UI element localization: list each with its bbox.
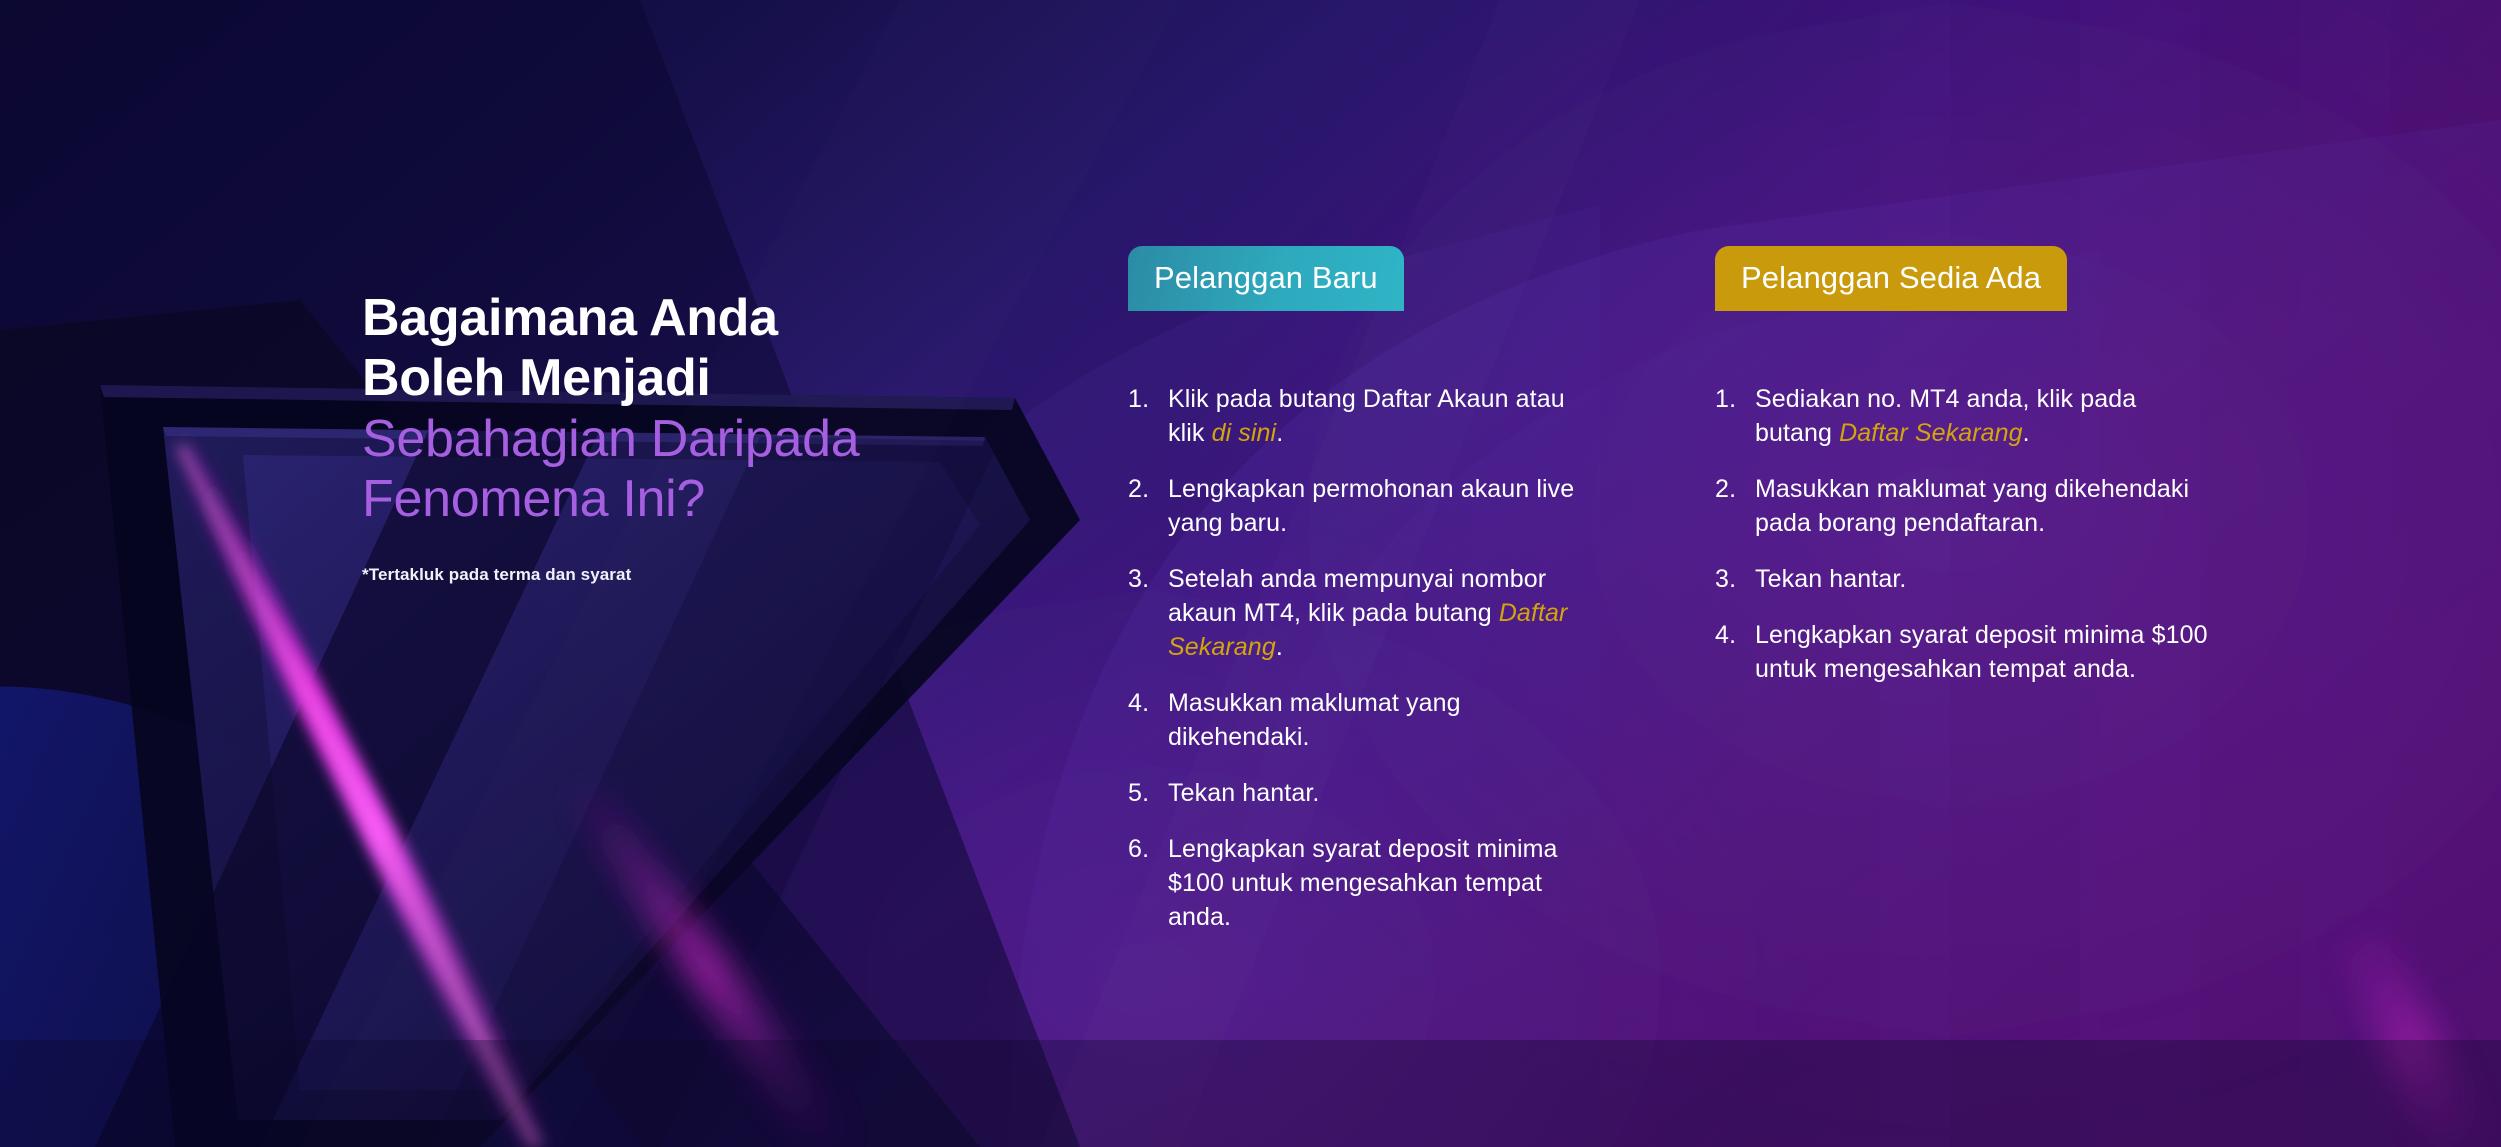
step-number: 5. xyxy=(1128,776,1168,810)
headline-line-3: Sebahagian Daripada xyxy=(362,409,1002,469)
steps-list-new-customer: 1.Klik pada butang Daftar Akaun atau kli… xyxy=(1128,382,1628,956)
step-number: 3. xyxy=(1128,562,1168,596)
page-content: Bagaimana Anda Boleh Menjadi Sebahagian … xyxy=(0,0,2501,1147)
step-item: 6.Lengkapkan syarat deposit minima $100 … xyxy=(1128,832,1628,934)
step-item: 4.Lengkapkan syarat deposit minima $100 … xyxy=(1715,618,2255,686)
step-item: 5.Tekan hantar. xyxy=(1128,776,1628,810)
step-number: 4. xyxy=(1128,686,1168,720)
steps-list-existing-customer: 1.Sediakan no. MT4 anda, klik pada butan… xyxy=(1715,382,2255,708)
step-item: 3.Setelah anda mempunyai nombor akaun MT… xyxy=(1128,562,1628,664)
step-text-run: Lengkapkan syarat deposit minima $100 un… xyxy=(1755,621,2208,683)
step-text: Masukkan maklumat yang dikehendaki pada … xyxy=(1755,472,2217,540)
step-text: Tekan hantar. xyxy=(1755,562,1906,596)
step-number: 4. xyxy=(1715,618,1755,652)
step-item: 4.Masukkan maklumat yang dikehendaki. xyxy=(1128,686,1628,754)
step-text: Sediakan no. MT4 anda, klik pada butang … xyxy=(1755,382,2217,450)
step-text: Klik pada butang Daftar Akaun atau klik … xyxy=(1168,382,1580,450)
step-text-run: . xyxy=(2023,419,2030,447)
step-link-text[interactable]: Daftar Sekarang xyxy=(1839,419,2023,447)
step-text-run: Tekan hantar. xyxy=(1168,779,1319,807)
step-number: 2. xyxy=(1128,472,1168,506)
step-text-run: Masukkan maklumat yang dikehendaki. xyxy=(1168,689,1461,751)
badge-existing-customer: Pelanggan Sedia Ada xyxy=(1715,246,2067,311)
step-item: 3.Tekan hantar. xyxy=(1715,562,2255,596)
badge-wrap-existing: Pelanggan Sedia Ada xyxy=(1715,246,2067,311)
step-number: 3. xyxy=(1715,562,1755,596)
step-text-run: . xyxy=(1276,633,1283,661)
step-number: 1. xyxy=(1715,382,1755,416)
headline-line-1: Bagaimana Anda xyxy=(362,288,1002,348)
step-text-run: . xyxy=(1276,419,1283,447)
step-link-text[interactable]: di sini xyxy=(1212,419,1277,447)
badge-new-customer: Pelanggan Baru xyxy=(1128,246,1404,311)
step-text: Lengkapkan syarat deposit minima $100 un… xyxy=(1755,618,2217,686)
step-text-run: Setelah anda mempunyai nombor akaun MT4,… xyxy=(1168,565,1546,627)
step-text: Lengkapkan syarat deposit minima $100 un… xyxy=(1168,832,1580,934)
step-number: 6. xyxy=(1128,832,1168,866)
step-number: 1. xyxy=(1128,382,1168,416)
headline-line-4: Fenomena Ini? xyxy=(362,469,1002,529)
step-text: Masukkan maklumat yang dikehendaki. xyxy=(1168,686,1580,754)
step-text-run: Tekan hantar. xyxy=(1755,565,1906,593)
step-text: Tekan hantar. xyxy=(1168,776,1319,810)
step-item: 1.Sediakan no. MT4 anda, klik pada butan… xyxy=(1715,382,2255,450)
step-text-run: Masukkan maklumat yang dikehendaki pada … xyxy=(1755,475,2189,537)
badge-wrap-new: Pelanggan Baru xyxy=(1128,246,1404,311)
step-text-run: Lengkapkan permohonan akaun live yang ba… xyxy=(1168,475,1574,537)
step-item: 1.Klik pada butang Daftar Akaun atau kli… xyxy=(1128,382,1628,450)
step-item: 2.Masukkan maklumat yang dikehendaki pad… xyxy=(1715,472,2255,540)
step-number: 2. xyxy=(1715,472,1755,506)
headline-line-2: Boleh Menjadi xyxy=(362,348,1002,408)
step-text: Lengkapkan permohonan akaun live yang ba… xyxy=(1168,472,1580,540)
step-item: 2.Lengkapkan permohonan akaun live yang … xyxy=(1128,472,1628,540)
step-text: Setelah anda mempunyai nombor akaun MT4,… xyxy=(1168,562,1580,664)
headline-block: Bagaimana Anda Boleh Menjadi Sebahagian … xyxy=(362,288,1002,585)
headline-disclaimer: *Tertakluk pada terma dan syarat xyxy=(362,565,1002,585)
step-text-run: Lengkapkan syarat deposit minima $100 un… xyxy=(1168,835,1558,931)
